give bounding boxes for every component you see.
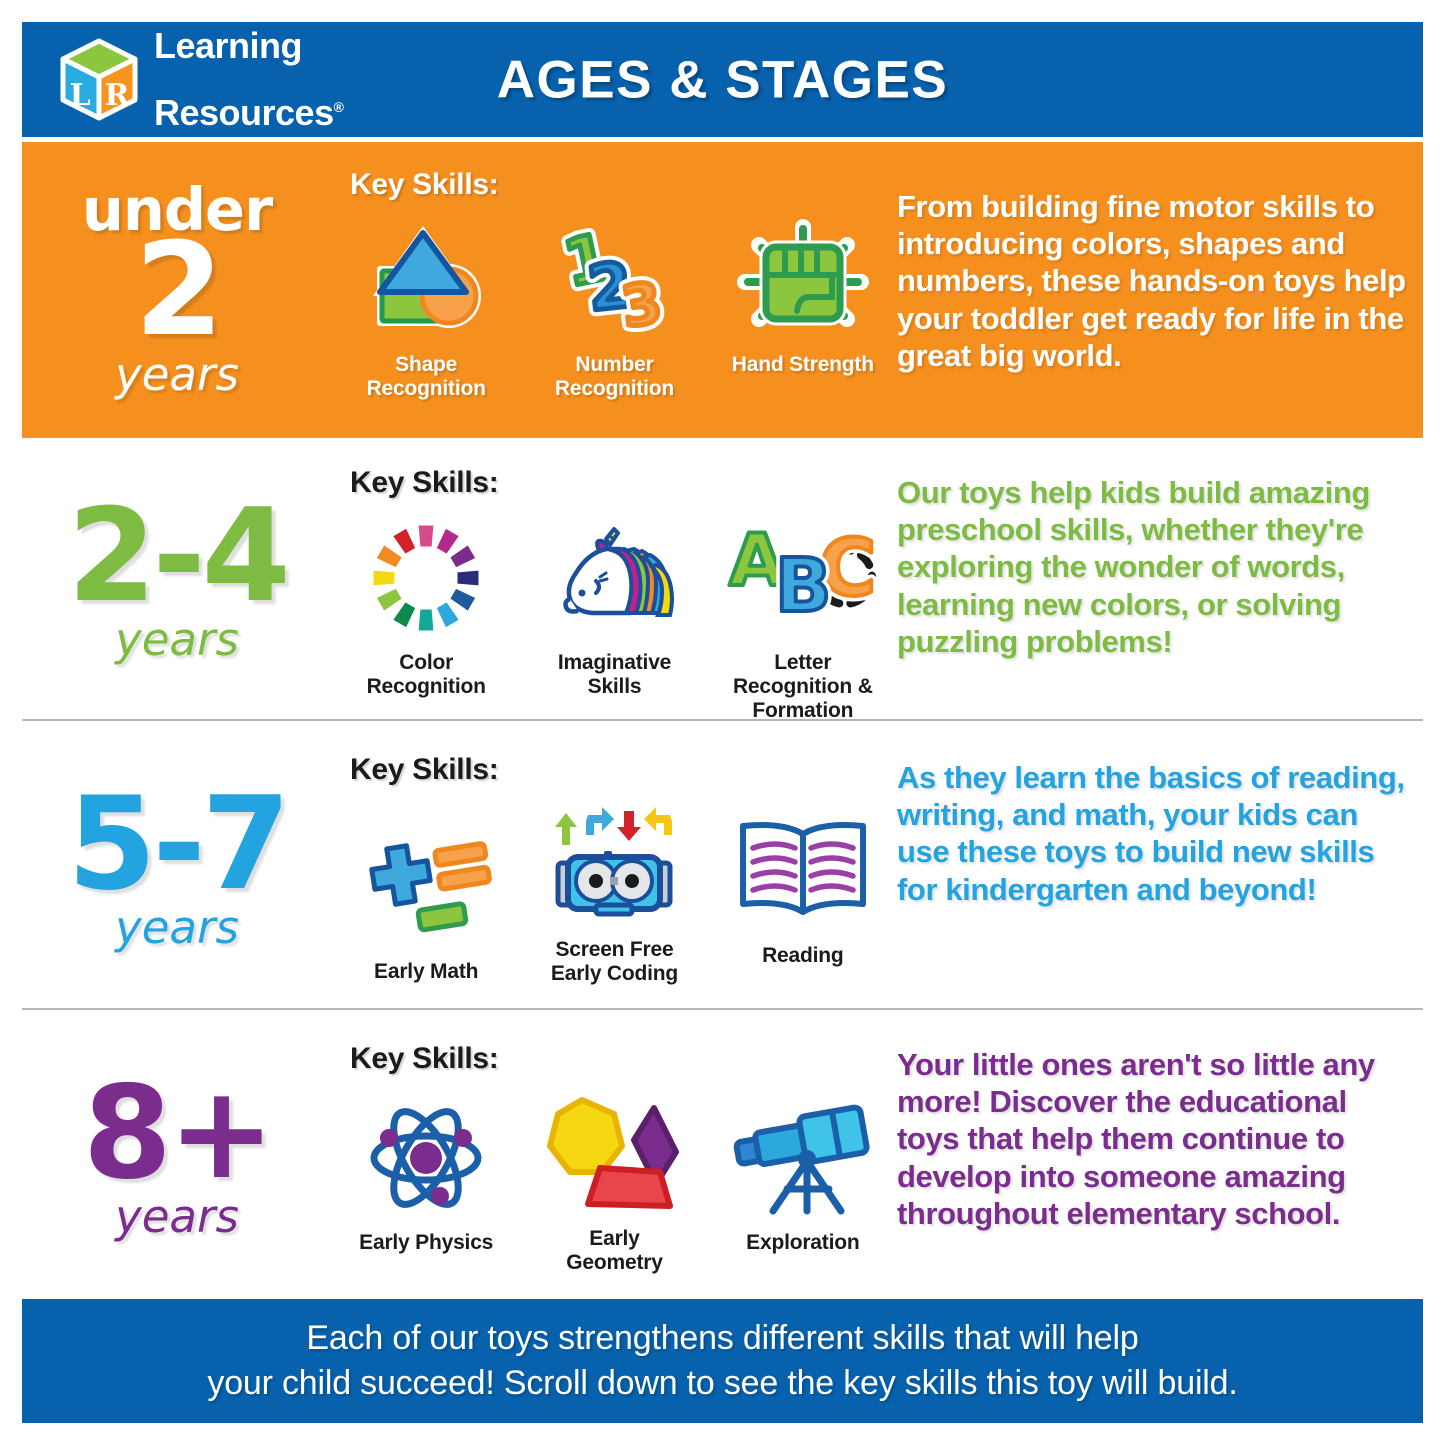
skills-column-8-plus: Key Skills: (332, 1016, 897, 1298)
footer-message: Each of our toys strengthens different s… (207, 1316, 1237, 1406)
age-number: 8+ (83, 1075, 271, 1193)
key-skills-heading: Key Skills: (350, 1042, 498, 1076)
svg-text:3: 3 (619, 271, 667, 341)
key-skills-heading: Key Skills: (350, 168, 498, 202)
age-description: From building fine motor skills to intro… (897, 184, 1409, 374)
skill-label: Reading (762, 944, 843, 968)
age-row-8-plus: 8+ years Key Skills: (22, 1016, 1423, 1298)
footer-bar: Each of our toys strengthens different s… (22, 1299, 1423, 1423)
telescope-icon (729, 1094, 877, 1222)
infographic-page: L R Learning Resources® AGES & STAGES un… (0, 0, 1445, 1445)
age-years-word: years (115, 617, 239, 662)
skills-column-under-2: Key Skills: Shape Recognition (332, 142, 897, 438)
age-label-8-plus: 8+ years (22, 1016, 332, 1298)
description-column-under-2: From building fine motor skills to intro… (897, 142, 1423, 438)
skill-shape-recognition: Shape Recognition (336, 216, 516, 401)
skills-column-5-7: Key Skills: (332, 727, 897, 1009)
age-number: 2-4 (67, 498, 286, 616)
brand-line-2: Resources® (154, 96, 343, 130)
row-divider (22, 1008, 1423, 1010)
registered-mark: ® (334, 99, 344, 115)
shape-recognition-icon (361, 216, 491, 344)
svg-text:R: R (105, 78, 131, 113)
unicorn-icon (544, 514, 684, 642)
skill-early-geometry: Early Geometry (524, 1090, 704, 1275)
color-wheel-icon (367, 514, 485, 642)
age-row-5-7: 5-7 years Key Skills: (22, 727, 1423, 1009)
skill-exploration: Exploration (713, 1090, 893, 1255)
svg-text:L: L (69, 78, 90, 113)
age-number: 2 (134, 232, 219, 350)
skill-label: Early Physics (359, 1231, 493, 1255)
open-book-icon (733, 807, 873, 935)
number-recognition-icon: 1 1 2 2 3 3 (549, 216, 679, 344)
svg-text:B: B (775, 543, 831, 629)
header-bar: L R Learning Resources® AGES & STAGES (22, 22, 1423, 137)
skill-label: Early Math (374, 960, 478, 984)
description-column-5-7: As they learn the basics of reading, wri… (897, 727, 1423, 1009)
skill-label: Early Geometry (566, 1227, 662, 1275)
atom-icon (366, 1094, 486, 1222)
skill-label: Shape Recognition (367, 353, 486, 401)
skill-hand-strength: Hand Strength (713, 216, 893, 377)
skill-letter-recognition: C C A A B B Letter Recognition & Formati… (713, 514, 893, 723)
skill-label: Exploration (746, 1231, 859, 1255)
skill-early-coding: Screen Free Early Coding (524, 801, 704, 986)
age-label-5-7: 5-7 years (22, 727, 332, 1009)
age-row-2-4: 2-4 years Key Skills: (22, 440, 1423, 720)
age-number: 5-7 (67, 786, 286, 904)
skill-label: Hand Strength (732, 353, 874, 377)
age-row-under-2: under 2 years Key Skills: (22, 142, 1423, 438)
brand-logo: L R Learning Resources® (60, 0, 343, 164)
abc-letters-icon: C C A A B B (723, 514, 883, 642)
description-column-2-4: Our toys help kids build amazing prescho… (897, 440, 1423, 720)
skill-label: Number Recognition (555, 353, 674, 401)
skill-number-recognition: 1 1 2 2 3 3 Number Recognition (524, 216, 704, 401)
brand-name: Learning Resources® (154, 0, 343, 164)
age-label-under-2: under 2 years (22, 142, 332, 438)
skill-reading: Reading (713, 801, 893, 968)
key-skills-heading: Key Skills: (350, 753, 498, 787)
age-years-word: years (115, 1194, 239, 1239)
skill-imaginative: Imaginative Skills (524, 514, 704, 699)
early-math-icon (361, 823, 491, 951)
brand-line-1: Learning (154, 29, 343, 63)
age-years-word: years (115, 352, 239, 397)
age-label-2-4: 2-4 years (22, 440, 332, 720)
age-description: As they learn the basics of reading, wri… (897, 759, 1409, 908)
age-description: Your little ones aren't so little any mo… (897, 1046, 1409, 1232)
age-description: Our toys help kids build amazing prescho… (897, 474, 1409, 660)
description-column-8-plus: Your little ones aren't so little any mo… (897, 1016, 1423, 1298)
row-divider (22, 719, 1423, 721)
skill-label: Screen Free Early Coding (551, 938, 678, 986)
learning-resources-cube-logo: L R (60, 39, 138, 121)
age-years-word: years (115, 905, 239, 950)
skill-early-math: Early Math (336, 801, 516, 984)
skill-early-physics: Early Physics (336, 1090, 516, 1255)
skill-color-recognition: Color Recognition (336, 514, 516, 699)
hand-strength-icon (737, 216, 869, 344)
coding-robot-icon (544, 801, 684, 929)
key-skills-heading: Key Skills: (350, 466, 498, 500)
skill-label: Color Recognition (367, 651, 486, 699)
skill-label: Imaginative Skills (558, 651, 671, 699)
geometry-shapes-icon (544, 1090, 684, 1218)
skills-column-2-4: Key Skills: (332, 440, 897, 720)
skill-label: Letter Recognition & Formation (733, 651, 873, 723)
